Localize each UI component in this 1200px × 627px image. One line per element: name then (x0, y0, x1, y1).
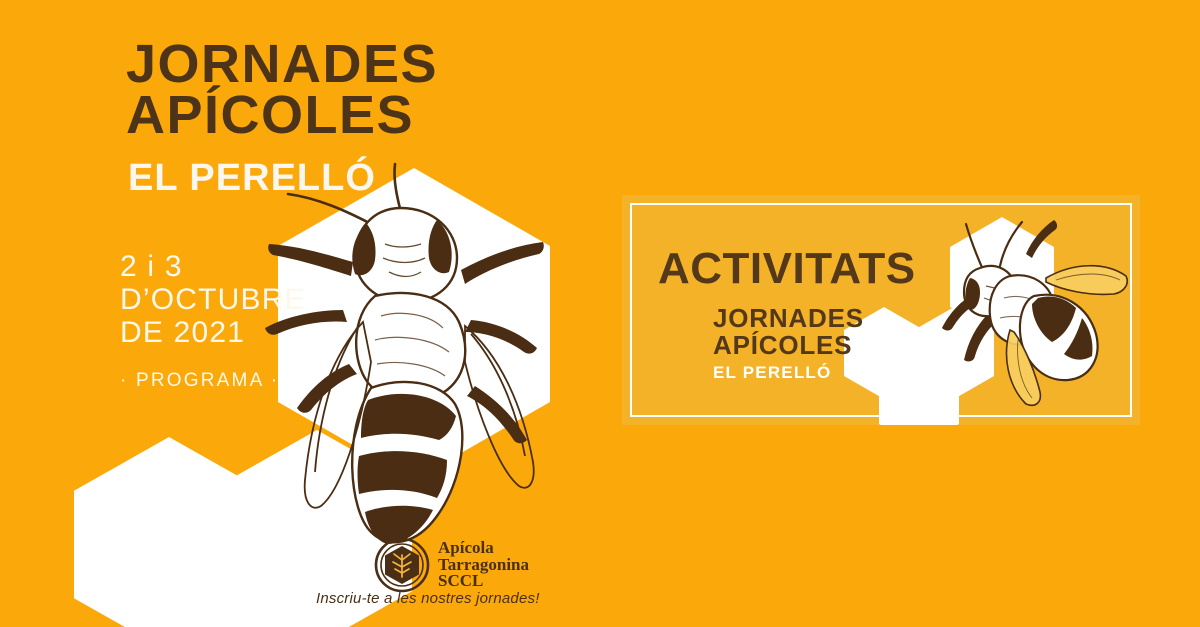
brand-logo-text: Apícola Tarragonina SCCL (438, 540, 529, 590)
panel-location: EL PERELLÓ (713, 363, 831, 383)
panel-title: ACTIVITATS (658, 247, 916, 291)
brand-logo: Apícola Tarragonina SCCL (374, 537, 529, 593)
tagline: Inscriu-te a les nostres jornades! (316, 590, 540, 607)
hexagon-bee-emblem-icon (374, 537, 430, 593)
page-subtitle: EL PERELLÓ (128, 158, 376, 198)
main-bee-illustration (225, 150, 575, 560)
page-title: JORNADES APÍCOLES (126, 39, 546, 141)
poster-canvas: JORNADES APÍCOLES EL PERELLÓ 2 i 3 D’OCT… (0, 0, 1200, 627)
activitats-panel: ACTIVITATS JORNADES APÍCOLES EL PERELLÓ (622, 195, 1140, 425)
panel-subtitle: JORNADES APÍCOLES (713, 305, 864, 359)
panel-bee-illustration (922, 210, 1132, 410)
programa-label: · PROGRAMA · (120, 370, 279, 392)
event-date: 2 i 3 D’OCTUBRE DE 2021 (120, 250, 306, 349)
